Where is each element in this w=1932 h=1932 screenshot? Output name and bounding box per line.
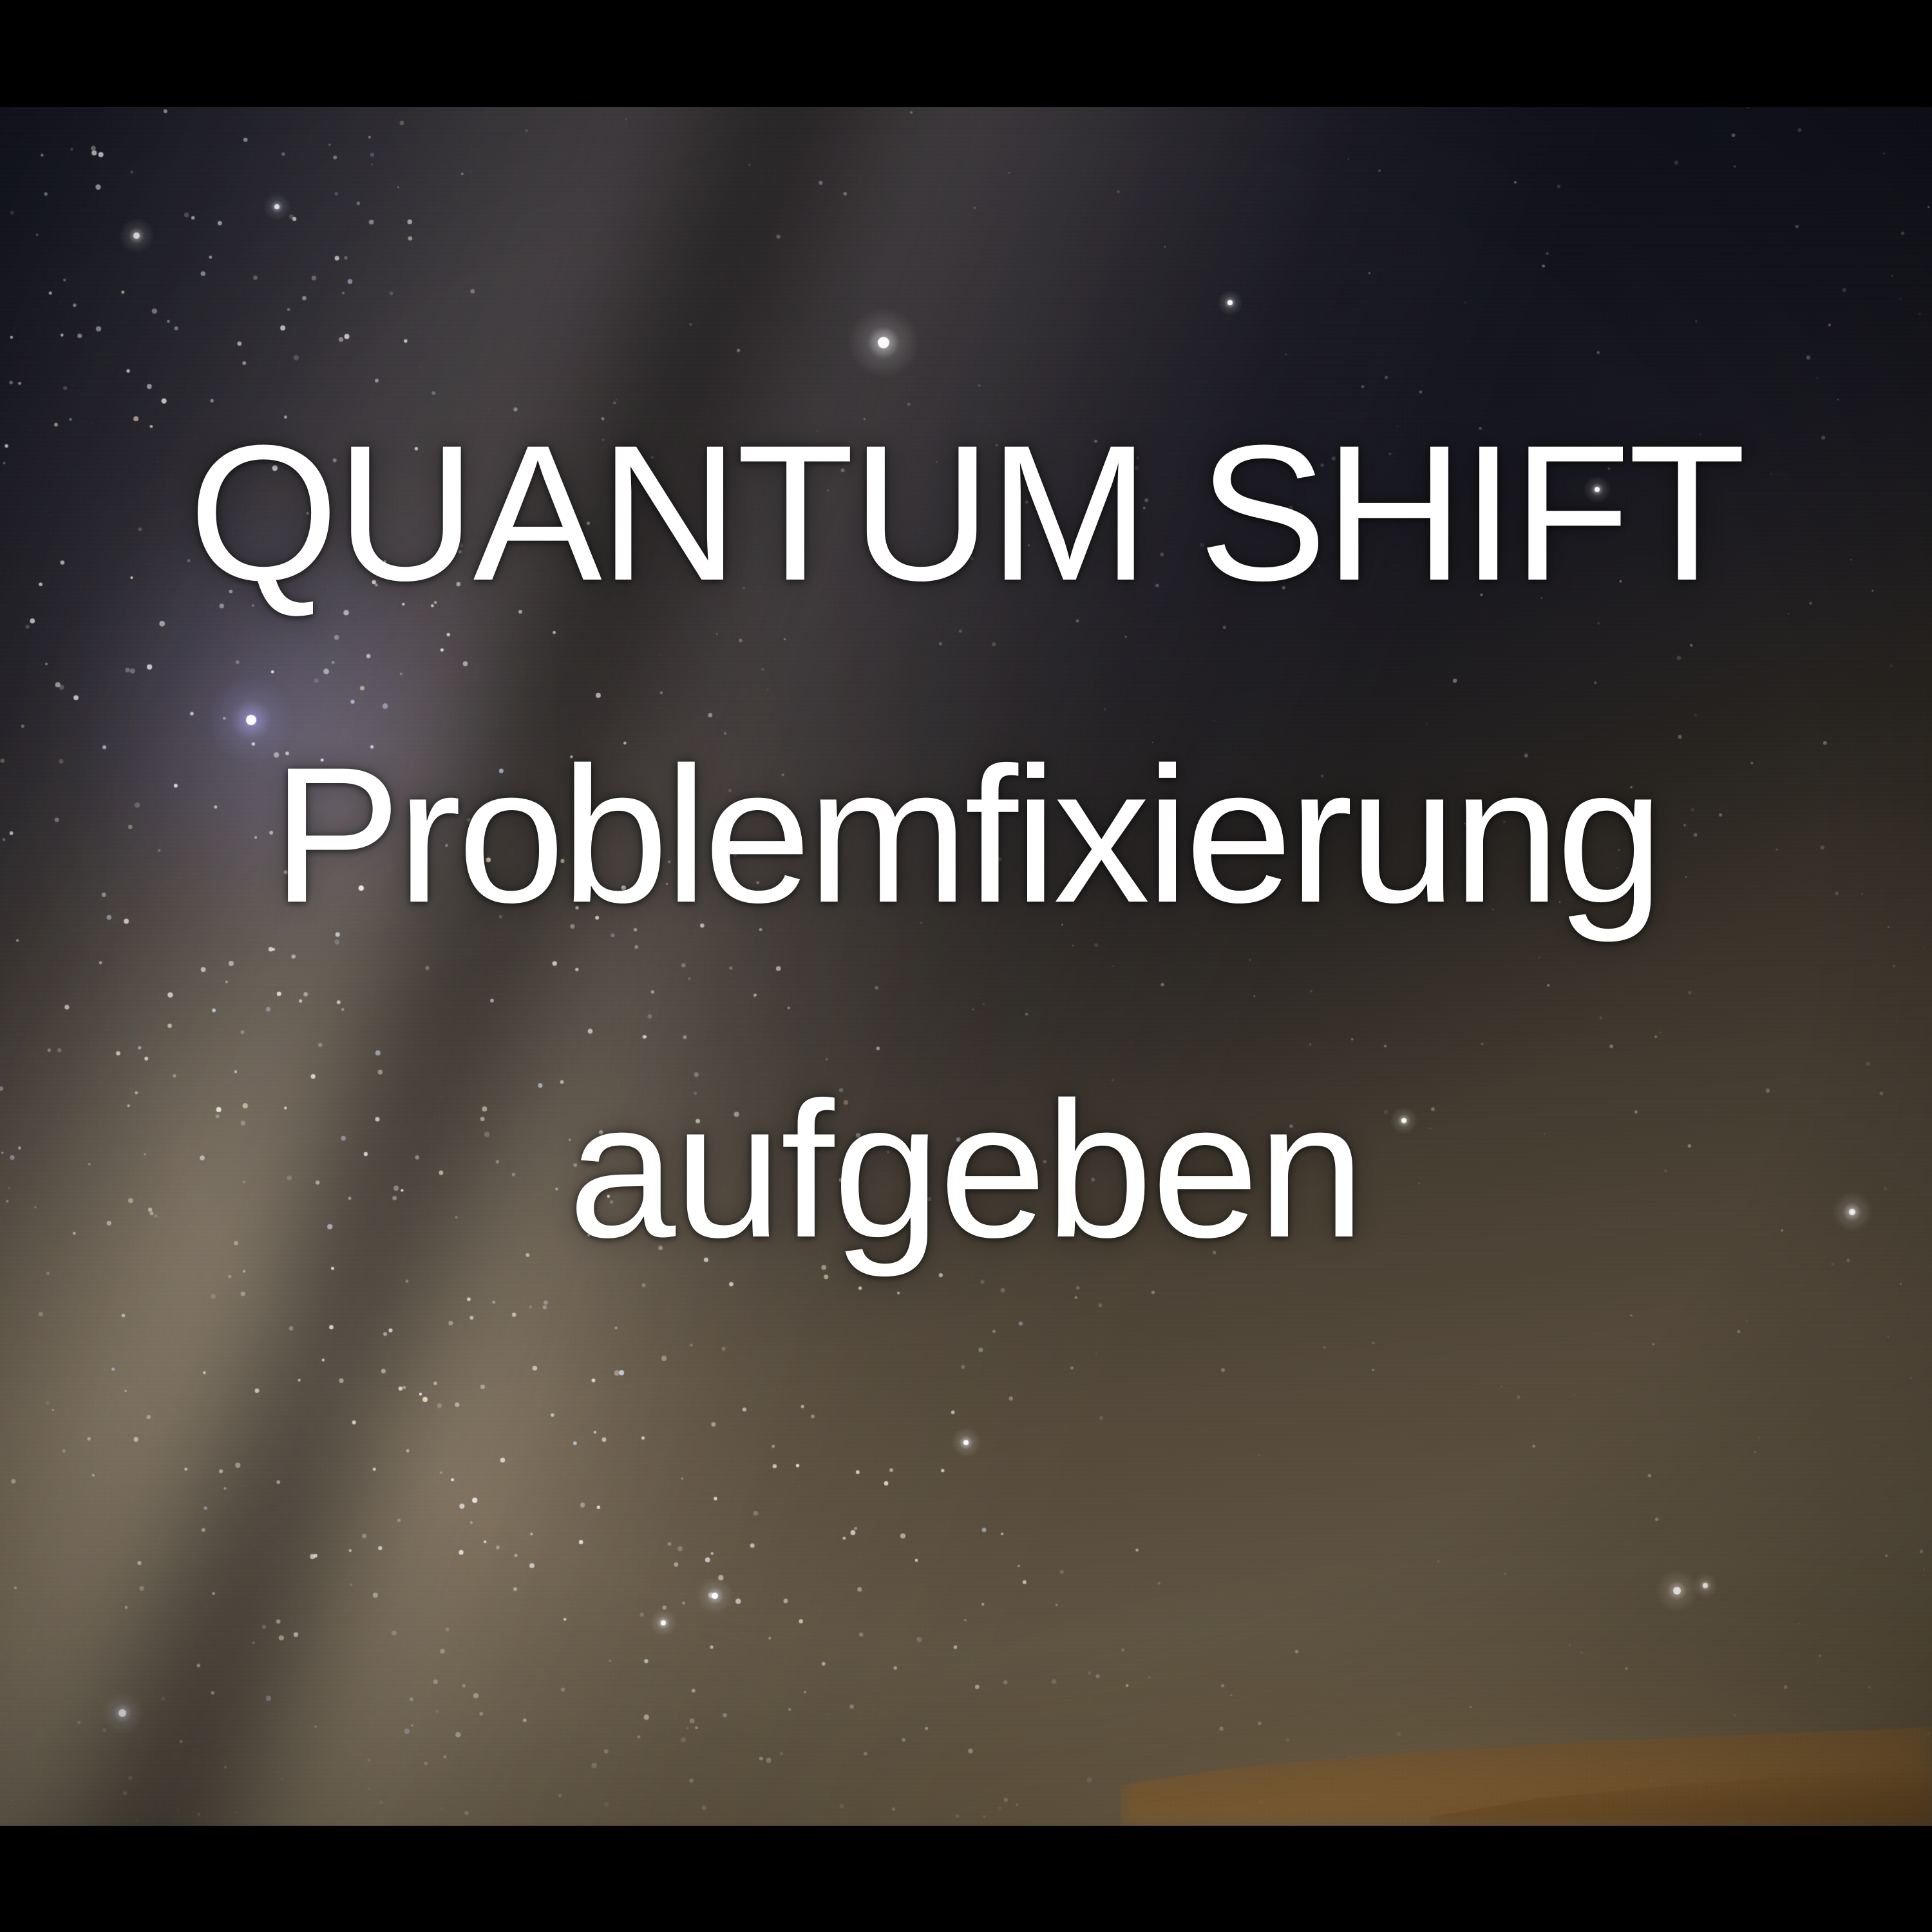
- letterbox-bar-top: [0, 0, 1932, 107]
- video-still-canvas: QUANTUM SHIFT Problemfixierung aufgeben: [0, 0, 1932, 1932]
- night-sky-background: [0, 107, 1932, 1826]
- letterbox-bar-bottom: [0, 1826, 1932, 1932]
